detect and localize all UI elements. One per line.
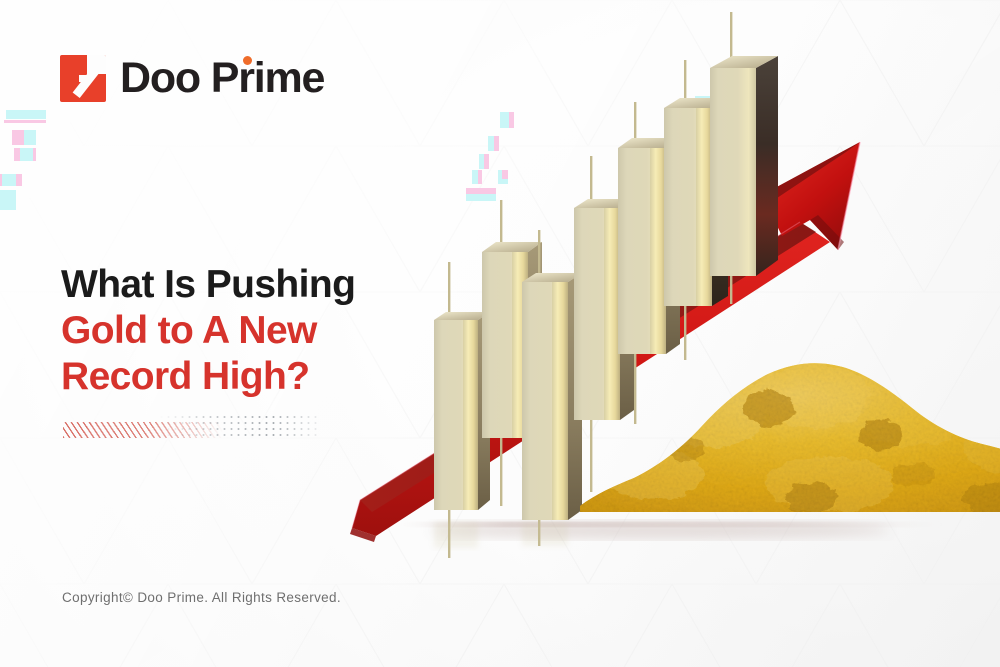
brand-logo[interactable]: Doo Prime — [60, 55, 324, 102]
glitch-decoration-left — [0, 104, 56, 224]
candlestick-3 — [522, 230, 582, 546]
brand-wordmark: Doo Prime — [120, 57, 324, 100]
dot-grid — [158, 414, 321, 438]
decorative-bar — [63, 414, 321, 440]
headline-line-3: Record High? — [61, 354, 355, 400]
headline-line-1: What Is Pushing — [61, 262, 355, 308]
headline-block: What Is Pushing Gold to A New Record Hig… — [61, 262, 355, 400]
banner-canvas: Doo Prime What Is Pushing Gold to A New … — [0, 0, 1000, 667]
hero-illustration — [330, 60, 1000, 600]
brand-accent-dot-icon — [243, 56, 252, 65]
candlestick-1 — [434, 262, 490, 558]
logo-stem-gap — [79, 75, 87, 82]
doo-prime-flag-mark-icon — [60, 55, 106, 102]
brand-name: Doo Prime — [120, 54, 324, 102]
copyright-text: Copyright© Doo Prime. All Rights Reserve… — [62, 590, 341, 605]
headline-line-2: Gold to A New — [61, 308, 355, 354]
